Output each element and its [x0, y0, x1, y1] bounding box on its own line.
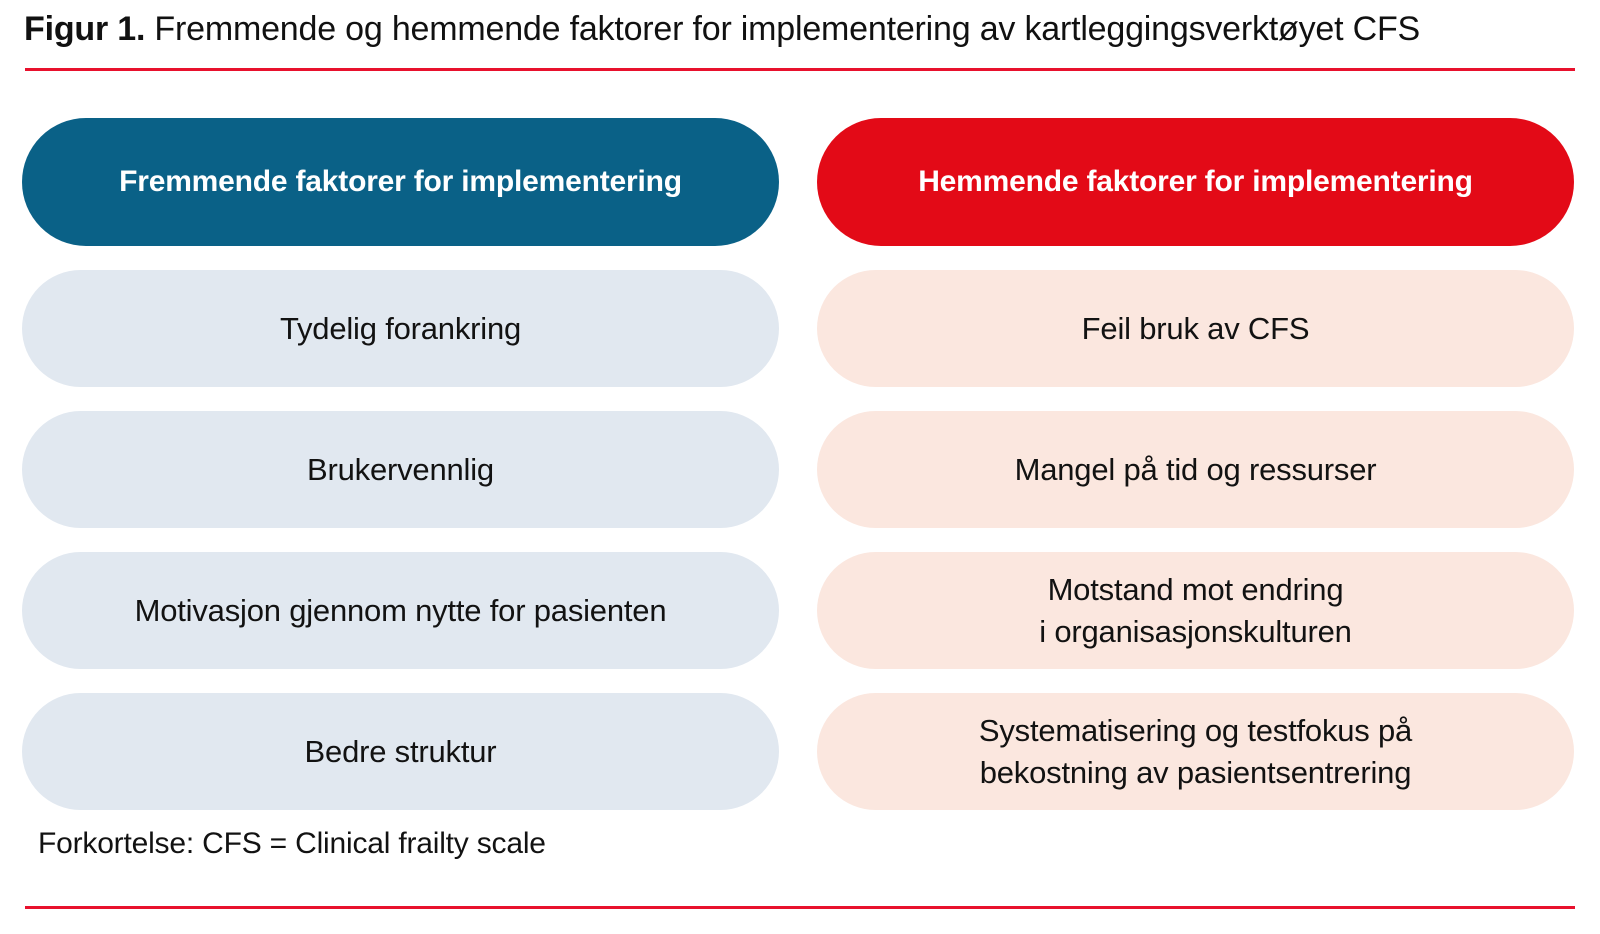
column-header-inhibiting: Hemmende faktorer for implementering [817, 118, 1574, 246]
figure-container: Figur 1. Fremmende og hemmende faktorer … [0, 0, 1600, 934]
top-rule-divider [25, 68, 1575, 71]
inhibiting-item-3-line-1: Motstand mot endring [1039, 569, 1351, 611]
figure-title: Figur 1. Fremmende og hemmende faktorer … [24, 8, 1576, 50]
column-header-promoting: Fremmende faktorer for implementering [22, 118, 779, 246]
promoting-item-2-line-1: Brukervennlig [307, 449, 494, 491]
inhibiting-item-4: Systematisering og testfokus på bekostni… [817, 693, 1574, 810]
column-promoting: Fremmende faktorer for implementering Ty… [22, 118, 779, 810]
inhibiting-item-1-line-1: Feil bruk av CFS [1082, 308, 1310, 350]
inhibiting-item-4-line-1: Systematisering og testfokus på [979, 710, 1412, 752]
inhibiting-item-3-line-2: i organisasjonskulturen [1039, 611, 1351, 653]
promoting-item-3-line-1: Motivasjon gjennom nytte for pasienten [135, 590, 667, 632]
inhibiting-item-4-line-2: bekostning av pasientsentrering [979, 752, 1412, 794]
promoting-item-3: Motivasjon gjennom nytte for pasienten [22, 552, 779, 669]
promoting-item-4-line-1: Bedre struktur [305, 731, 497, 773]
figure-footnote: Forkortelse: CFS = Clinical frailty scal… [38, 824, 546, 864]
figure-caption: Fremmende og hemmende faktorer for imple… [145, 10, 1420, 48]
bottom-rule-divider [25, 906, 1575, 909]
column-inhibiting: Hemmende faktorer for implementering Fei… [817, 118, 1574, 810]
promoting-item-1-line-1: Tydelig forankring [280, 308, 521, 350]
promoting-item-2: Brukervennlig [22, 411, 779, 528]
inhibiting-item-3: Motstand mot endring i organisasjonskult… [817, 552, 1574, 669]
columns-wrapper: Fremmende faktorer for implementering Ty… [22, 118, 1574, 810]
inhibiting-item-1: Feil bruk av CFS [817, 270, 1574, 387]
inhibiting-item-2-line-1: Mangel på tid og ressurser [1015, 449, 1377, 491]
promoting-item-1: Tydelig forankring [22, 270, 779, 387]
figure-number: Figur 1. [24, 10, 145, 48]
inhibiting-item-2: Mangel på tid og ressurser [817, 411, 1574, 528]
promoting-item-4: Bedre struktur [22, 693, 779, 810]
